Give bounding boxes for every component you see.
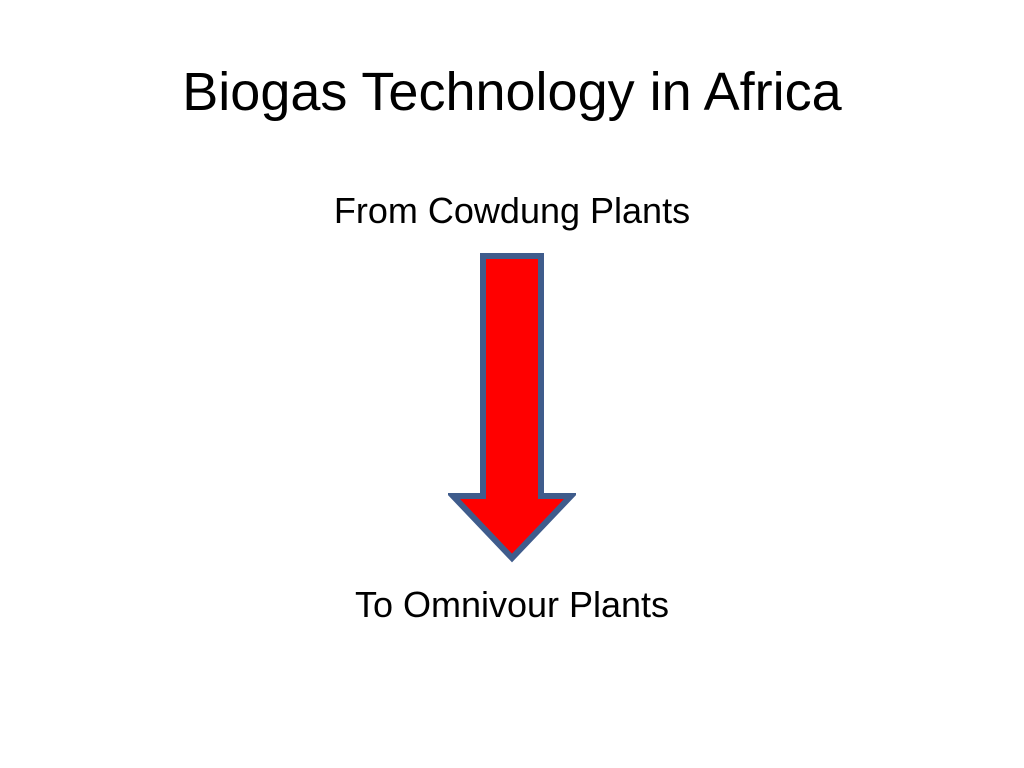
down-arrow-icon (448, 250, 576, 565)
source-label: From Cowdung Plants (0, 190, 1024, 232)
down-arrow-shape (448, 250, 576, 565)
target-label: To Omnivour Plants (0, 584, 1024, 626)
slide-canvas: Biogas Technology in Africa From Cowdung… (0, 0, 1024, 768)
page-title: Biogas Technology in Africa (0, 62, 1024, 122)
down-arrow-polygon (453, 256, 571, 558)
